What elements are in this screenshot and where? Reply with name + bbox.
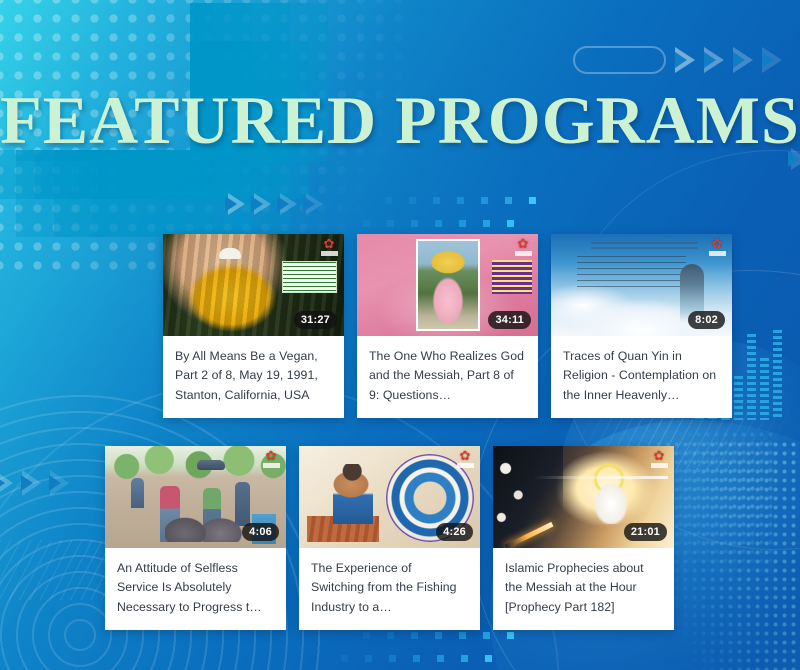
program-thumbnail[interactable]: ✿ 34:11: [357, 234, 538, 336]
lotus-flame-logo-icon: ✿: [512, 237, 534, 256]
square-dot: [365, 655, 372, 662]
play-triangle-icon: [254, 193, 271, 215]
lotus-flame-logo-icon: ✿: [706, 237, 728, 256]
program-thumbnail[interactable]: ✿ 31:27: [163, 234, 344, 336]
thumbnail-detail: [533, 476, 668, 479]
duration-badge: 4:26: [436, 523, 473, 541]
program-card-body: The Experience of Switching from the Fis…: [299, 548, 480, 630]
square-dot: [341, 655, 348, 662]
program-card[interactable]: ✿ 4:06 An Attitude of Selfless Service I…: [105, 446, 286, 630]
program-card[interactable]: ✿ 34:11 The One Who Realizes God and the…: [357, 234, 538, 418]
square-dot: [481, 197, 488, 204]
duration-badge: 34:11: [488, 311, 531, 329]
halftone-dots-bottom-right-decoration: [654, 440, 800, 670]
duration-badge: 8:02: [688, 311, 725, 329]
play-triangle-icon: [280, 193, 297, 215]
program-card-body: Traces of Quan Yin in Religion - Contemp…: [551, 336, 732, 418]
program-card[interactable]: ✿ 4:26 The Experience of Switching from …: [299, 446, 480, 630]
square-dot: [433, 197, 440, 204]
pill-outline-icon: [573, 46, 666, 74]
program-title[interactable]: An Attitude of Selfless Service Is Absol…: [117, 559, 274, 617]
program-card-body: An Attitude of Selfless Service Is Absol…: [105, 548, 286, 630]
play-triangle-icon: [733, 47, 753, 73]
duration-badge: 4:06: [242, 523, 279, 541]
square-dot: [363, 632, 370, 639]
thumbnail-detail: [219, 248, 241, 259]
square-dot: [485, 655, 492, 662]
thumbnail-detail: [591, 480, 631, 524]
play-triangle-icon: [306, 193, 323, 215]
equalizer-bar: [734, 376, 743, 420]
program-card-body: By All Means Be a Vegan, Part 2 of 8, Ma…: [163, 336, 344, 418]
thumbnail-overlay-text: [577, 256, 686, 292]
thumbnail-detail: [165, 512, 255, 542]
lotus-flame-logo-icon: ✿: [454, 449, 476, 468]
play-triangle-icon: [228, 193, 245, 215]
thumbnail-overlay-label: [282, 261, 337, 293]
halftone-dots-mid-right-decoration: [658, 430, 778, 580]
program-row-2: ✿ 4:06 An Attitude of Selfless Service I…: [105, 446, 674, 630]
play-triangle-icon: [50, 470, 69, 496]
equalizer-bar: [760, 358, 769, 420]
program-title[interactable]: Traces of Quan Yin in Religion - Contemp…: [563, 347, 720, 405]
equalizer-bar: [747, 334, 756, 420]
play-triangle-icon: [0, 470, 13, 496]
square-dots-bottom-decoration: [363, 632, 514, 662]
thumbnail-overlay-label: [492, 260, 532, 294]
square-dot: [457, 197, 464, 204]
square-dot: [459, 632, 466, 639]
lower-left-arrows-decoration: [0, 470, 69, 496]
square-dot: [413, 655, 420, 662]
square-dot: [507, 632, 514, 639]
program-title[interactable]: Islamic Prophecies about the Messiah at …: [505, 559, 662, 617]
square-dot: [411, 220, 418, 227]
square-dot: [387, 220, 394, 227]
square-dot: [435, 632, 442, 639]
square-dot: [411, 632, 418, 639]
play-triangle-icon: [675, 47, 695, 73]
duration-badge: 21:01: [624, 523, 667, 541]
program-thumbnail[interactable]: ✿ 4:06: [105, 446, 286, 548]
square-dot: [437, 655, 444, 662]
program-card-body: The One Who Realizes God and the Messiah…: [357, 336, 538, 418]
square-dot: [385, 197, 392, 204]
square-dot: [389, 655, 396, 662]
program-card[interactable]: ✿ 31:27 By All Means Be a Vegan, Part 2 …: [163, 234, 344, 418]
lotus-flame-logo-icon: ✿: [318, 237, 340, 256]
play-triangle-icon: [22, 470, 41, 496]
top-right-decoration-group: [573, 46, 782, 74]
equalizer-bar: [773, 330, 782, 420]
square-dot: [363, 220, 370, 227]
thumbnail-detail: [105, 446, 286, 480]
square-dot: [459, 220, 466, 227]
thumbnail-overlay-label: [591, 242, 698, 252]
program-title[interactable]: By All Means Be a Vegan, Part 2 of 8, Ma…: [175, 347, 332, 405]
square-dots-under-title-decoration: [385, 197, 536, 227]
square-dot: [529, 197, 536, 204]
square-dot: [461, 655, 468, 662]
square-dot: [409, 197, 416, 204]
thumbnail-detail: [197, 460, 225, 470]
lotus-flame-logo-icon: ✿: [648, 449, 670, 468]
program-thumbnail[interactable]: ✿ 8:02: [551, 234, 732, 336]
play-triangle-icon: [762, 47, 782, 73]
square-dot: [505, 197, 512, 204]
program-thumbnail[interactable]: ✿ 21:01: [493, 446, 674, 548]
program-card-body: Islamic Prophecies about the Messiah at …: [493, 548, 674, 630]
thumbnail-detail: [131, 478, 144, 508]
square-dot: [483, 220, 490, 227]
square-dot: [483, 632, 490, 639]
program-title[interactable]: The Experience of Switching from the Fis…: [311, 559, 468, 617]
program-card[interactable]: ✿ 8:02 Traces of Quan Yin in Religion - …: [551, 234, 732, 418]
lotus-flame-logo-icon: ✿: [260, 449, 282, 468]
square-dot: [387, 632, 394, 639]
program-row-1: ✿ 31:27 By All Means Be a Vegan, Part 2 …: [163, 234, 732, 418]
square-dot: [507, 220, 514, 227]
square-dot: [435, 220, 442, 227]
mid-left-arrows-decoration: [228, 193, 323, 215]
featured-programs-banner: FEATURED PROGRAMS: [0, 0, 800, 670]
program-title[interactable]: The One Who Realizes God and the Messiah…: [369, 347, 526, 405]
page-title: FEATURED PROGRAMS: [0, 86, 800, 154]
program-thumbnail[interactable]: ✿ 4:26: [299, 446, 480, 548]
duration-badge: 31:27: [294, 311, 337, 329]
thumbnail-detail: [416, 239, 480, 331]
thumbnail-detail: [333, 464, 373, 524]
play-triangle-icon: [704, 47, 724, 73]
program-card[interactable]: ✿ 21:01 Islamic Prophecies about the Mes…: [493, 446, 674, 630]
